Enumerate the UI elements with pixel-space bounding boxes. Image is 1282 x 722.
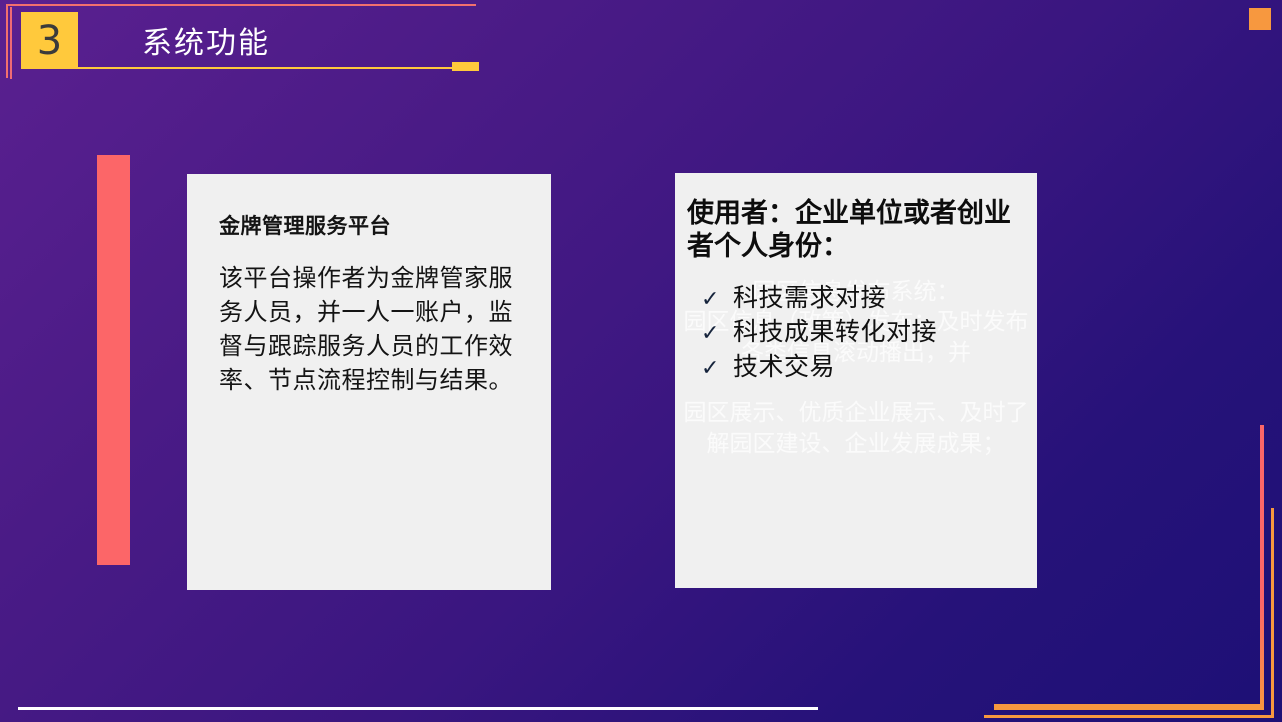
bottom-right-vertical-rule [1260, 425, 1264, 710]
check-icon: ✓ [701, 318, 733, 348]
list-item-label: 技术交易 [733, 350, 835, 385]
header-underline-cap [452, 62, 479, 71]
section-number-badge: 3 [21, 12, 78, 69]
left-accent-bar [97, 155, 130, 565]
right-card-check-list: ✓ 科技需求对接 ✓ 科技成果转化对接 ✓ 技术交易 [687, 281, 1025, 385]
bottom-right-orange-rule [994, 704, 1264, 710]
slide-root: 3 系统功能 金牌管理服务平台 该平台操作者为金牌管家服务人员，并一人一账户，监… [0, 0, 1282, 722]
top-right-square-decoration [1249, 8, 1271, 30]
page-title: 系统功能 [142, 18, 270, 62]
bottom-right-orange-outer-rule [984, 715, 1274, 718]
bottom-right-vertical-outer-rule [1271, 508, 1274, 718]
header-underline [78, 67, 478, 69]
list-item-label: 科技成果转化对接 [733, 315, 937, 350]
list-item: ✓ 技术交易 [701, 350, 1025, 385]
left-content-card: 金牌管理服务平台 该平台操作者为金牌管家服务人员，并一人一账户，监督与跟踪服务人… [187, 174, 551, 590]
right-card-title: 使用者：企业单位或者创业者个人身份： [687, 197, 1025, 263]
list-item-label: 科技需求对接 [733, 281, 886, 316]
list-item: ✓ 科技需求对接 [701, 281, 1025, 316]
list-item: ✓ 科技成果转化对接 [701, 315, 1025, 350]
check-icon: ✓ [701, 284, 733, 314]
left-card-title: 金牌管理服务平台 [219, 210, 519, 240]
right-content-card: 使用者：企业单位或者创业者个人身份： 园区信息发布系统： 园区信息（政策）发布：… [675, 173, 1037, 588]
section-number-text: 3 [37, 21, 62, 61]
check-icon: ✓ [701, 353, 733, 383]
bottom-left-white-rule [18, 707, 818, 710]
left-card-body: 该平台操作者为金牌管家服务人员，并一人一账户，监督与跟踪服务人员的工作效率、节点… [219, 262, 519, 398]
